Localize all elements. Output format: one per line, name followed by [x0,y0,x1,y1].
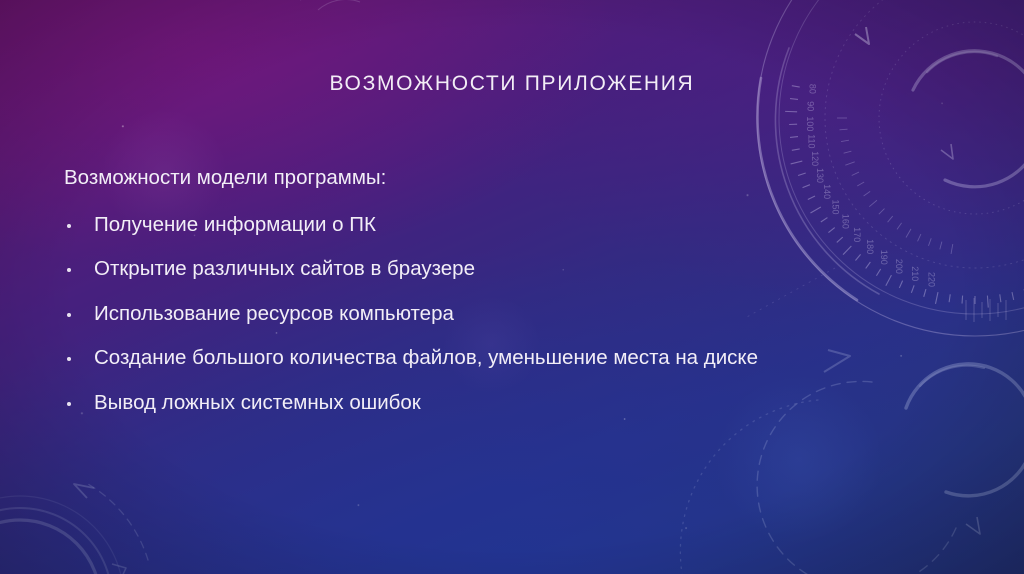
list-item-label: Создание большого количества файлов, уме… [94,346,758,369]
list-item: Создание большого количества файлов, уме… [64,348,924,369]
slide-body: Возможности модели программы: Получение … [64,168,924,413]
list-item: Открытие различных сайтов в браузере [64,259,924,280]
bullet-dot-icon [67,313,71,317]
bullet-dot-icon [67,224,71,228]
top-left-arc-icon [300,0,360,10]
feature-bullet-list: Получение информации о ПК Открытие разли… [64,215,924,414]
bullet-dot-icon [67,268,71,272]
intro-text: Возможности модели программы: [64,168,924,189]
svg-text:220: 220 [927,272,937,287]
list-item-label: Вывод ложных системных ошибок [94,391,421,414]
presentation-slide: 220 210 200 190 180 170 160 150 140 130 … [0,0,1024,574]
bullet-dot-icon [67,402,71,406]
right-edge-ticks-icon [966,298,1006,322]
svg-text:100: 100 [805,116,815,131]
list-item-label: Использование ресурсов компьютера [94,302,454,325]
list-item: Вывод ложных системных ошибок [64,393,924,414]
list-item-label: Открытие различных сайтов в браузере [94,257,475,280]
list-item-label: Получение информации о ПК [94,213,376,236]
bullet-dot-icon [67,357,71,361]
bottom-left-ring-icon [0,484,148,574]
svg-text:90: 90 [805,101,815,111]
svg-text:110: 110 [807,134,817,148]
slide-title: ВОЗМОЖНОСТИ ПРИЛОЖЕНИЯ [0,72,1024,96]
list-item: Получение информации о ПК [64,215,924,236]
svg-text:120: 120 [810,151,820,166]
list-item: Использование ресурсов компьютера [64,304,924,325]
